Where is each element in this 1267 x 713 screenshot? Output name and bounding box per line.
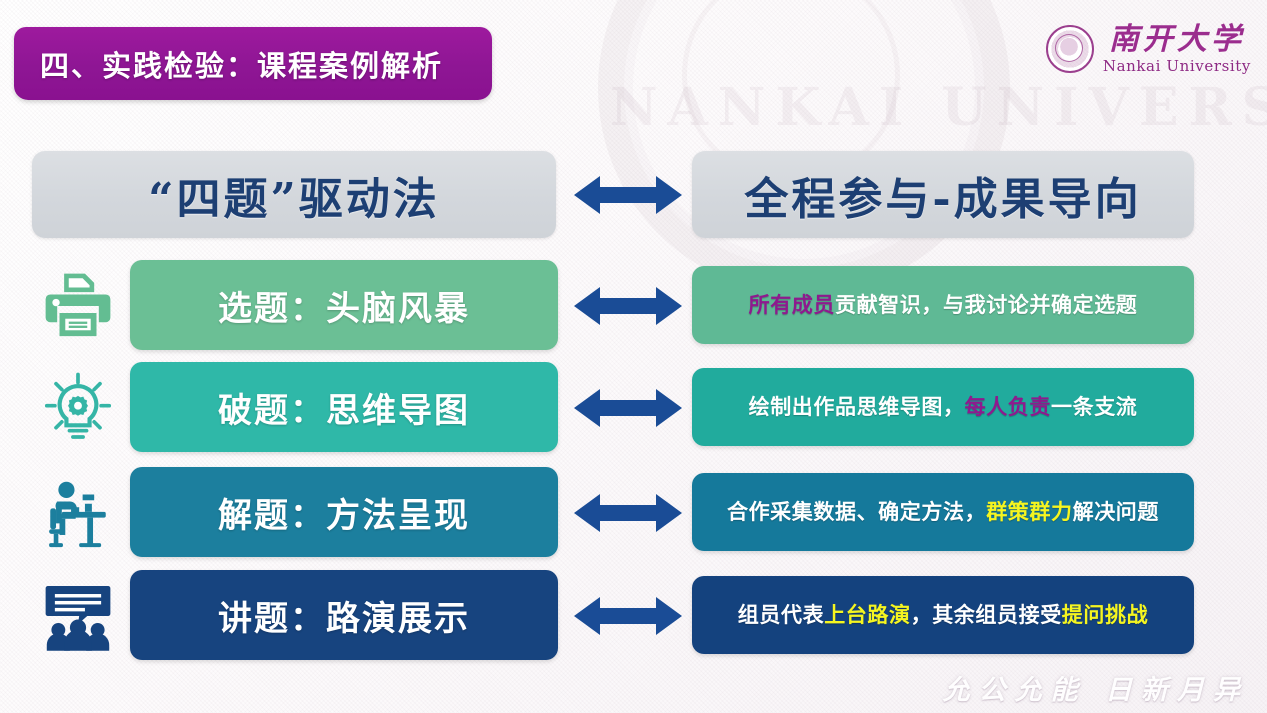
detail-bar-right[interactable]: 组员代表上台路演，其余组员接受提问挑战 [692,576,1194,654]
arrow-row-2 [566,360,690,455]
arrow-row-1 [566,258,690,353]
detail-text-part: 解决问题 [1073,499,1159,524]
detail-text-part: 所有成员 [749,292,835,317]
detail-text-part: 上台路演 [824,602,910,627]
double-headed-arrow-icon [574,285,682,327]
detail-text-part: 每人负责 [965,394,1051,419]
row-icon-printer-icon [28,258,128,353]
logo-wordmark: 南开大学 Nankai University [1103,25,1251,74]
university-logo: 南开大学 Nankai University [1046,18,1251,80]
header-box-left: “四题”驱动法 [32,151,556,238]
detail-bar-right[interactable]: 合作采集数据、确定方法，群策群力解决问题 [692,473,1194,551]
detail-text-part: 贡献智识，与我讨论并确定选题 [835,292,1137,317]
logo-name-cn: 南开大学 [1109,25,1245,55]
step-bar-left[interactable]: 解题：方法呈现 [130,467,558,557]
process-row: 选题：头脑风暴所有成员贡献智识，与我讨论并确定选题 [0,258,1267,353]
detail-bar-right-text: 合作采集数据、确定方法，群策群力解决问题 [727,499,1159,525]
arrow-header [566,151,690,238]
header-box-right: 全程参与-成果导向 [692,151,1194,238]
step-bar-left-label: 破题：思维导图 [218,383,470,432]
double-headed-arrow-icon [574,492,682,534]
detail-text-part: 绘制出作品思维导图， [749,394,965,419]
row-icon-presentation-audience-icon [28,568,128,663]
detail-text-part: 提问挑战 [1062,602,1148,627]
page-title: 四、实践检验：课程案例解析 [14,43,443,85]
process-row: 讲题：路演展示组员代表上台路演，其余组员接受提问挑战 [0,568,1267,663]
printer-icon [41,269,115,343]
detail-text-part: ，其余组员接受 [911,602,1062,627]
detail-text-part: 一条支流 [1051,394,1137,419]
detail-text-part: 合作采集数据、确定方法， [727,499,986,524]
row-icon-person-at-desk-icon [28,465,128,560]
detail-bar-right[interactable]: 所有成员贡献智识，与我讨论并确定选题 [692,266,1194,344]
presentation-audience-icon [41,579,115,653]
double-headed-arrow-icon [574,387,682,429]
detail-bar-right-text: 绘制出作品思维导图，每人负责一条支流 [749,394,1138,420]
step-bar-left-label: 选题：头脑风暴 [218,281,470,330]
detail-bar-right-text: 组员代表上台路演，其余组员接受提问挑战 [738,602,1148,628]
detail-bar-right-text: 所有成员贡献智识，与我讨论并确定选题 [749,292,1138,318]
row-icon-lightbulb-gear-icon [28,360,128,455]
process-row: 解题：方法呈现合作采集数据、确定方法，群策群力解决问题 [0,465,1267,560]
slide-title-banner: 四、实践检验：课程案例解析 [14,27,492,100]
double-headed-arrow-icon [574,174,682,216]
header-right-label: 全程参与-成果导向 [744,163,1141,227]
arrow-row-3 [566,465,690,560]
detail-bar-right[interactable]: 绘制出作品思维导图，每人负责一条支流 [692,368,1194,446]
double-headed-arrow-icon [574,595,682,637]
footer-motto: 允公允能 日新月异 [943,668,1249,707]
arrow-row-4 [566,568,690,663]
process-row: 破题：思维导图绘制出作品思维导图，每人负责一条支流 [0,360,1267,455]
detail-text-part: 群策群力 [986,499,1072,524]
detail-text-part: 组员代表 [738,602,824,627]
step-bar-left-label: 解题：方法呈现 [218,488,470,537]
nankai-seal-emblem-icon [1046,25,1094,73]
lightbulb-gear-icon [41,371,115,445]
step-bar-left[interactable]: 破题：思维导图 [130,362,558,452]
logo-name-en: Nankai University [1103,59,1251,74]
step-bar-left[interactable]: 选题：头脑风暴 [130,260,558,350]
header-left-label: “四题”驱动法 [148,163,440,227]
step-bar-left[interactable]: 讲题：路演展示 [130,570,558,660]
background-seal-watermark [598,0,1010,294]
person-at-desk-icon [41,476,115,550]
step-bar-left-label: 讲题：路演展示 [218,591,470,640]
slide-canvas: NANKAI UNIVERSITY 四、实践检验：课程案例解析 南开大学 Nan… [0,0,1267,713]
